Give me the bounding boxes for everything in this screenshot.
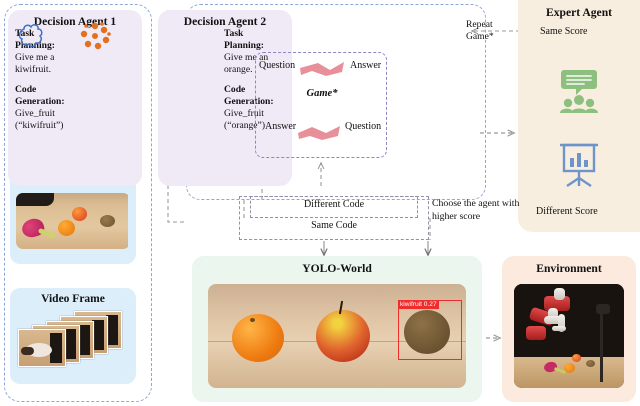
same-code-label: Same Code (250, 220, 418, 231)
orange-object (232, 314, 284, 362)
agent-title: Decision Agent 2 (158, 10, 292, 28)
different-score-label: Different Score (536, 206, 598, 217)
card-title: Video Frame (16, 293, 130, 306)
agent1-answer-slot: Answer (265, 121, 296, 132)
panel-title: YOLO-World (192, 256, 482, 275)
diagram-canvas: Question Give me the fruit with the high… (0, 0, 640, 406)
orange-dots-icon (78, 22, 112, 57)
panel-title: Environment (502, 256, 636, 275)
yolo-detection-image: kiwifruit 0.27 (208, 284, 466, 388)
apple-object (316, 310, 370, 362)
same-score-label: Same Score (540, 26, 588, 37)
code-generation-label: Code Generation: (15, 84, 75, 108)
detection-label: kiwifruit 0.27 (398, 300, 439, 309)
input-card-video-frame[interactable]: Video Frame (10, 288, 136, 384)
different-code-label: Different Code (250, 199, 418, 210)
agent1-question-slot: Question (259, 60, 295, 71)
choose-agent-label: Choose the agent with higher score (432, 197, 524, 223)
agent2-question-slot: Question (345, 121, 381, 132)
task-planning-label: Task Planning: (224, 28, 284, 52)
video-frames-icon (16, 309, 136, 365)
agent2-answer-slot: Answer (350, 60, 381, 71)
panel-title: Expert Agent (518, 0, 640, 19)
presentation-chart-icon (556, 140, 602, 193)
code-generation-value: Give_fruit (“kiwifruit”) (15, 108, 75, 132)
chat-group-icon (556, 68, 602, 119)
robot-arm-icon (514, 284, 624, 388)
repeat-game-label: Repeat Game* (466, 19, 506, 43)
fruit-photo-icon (16, 193, 130, 249)
game-label: Game* (296, 88, 348, 99)
blue-cloud-icon (16, 22, 46, 55)
detection-bounding-box (398, 300, 462, 360)
task-planning-value: Give me a kiwifruit. (15, 52, 75, 76)
